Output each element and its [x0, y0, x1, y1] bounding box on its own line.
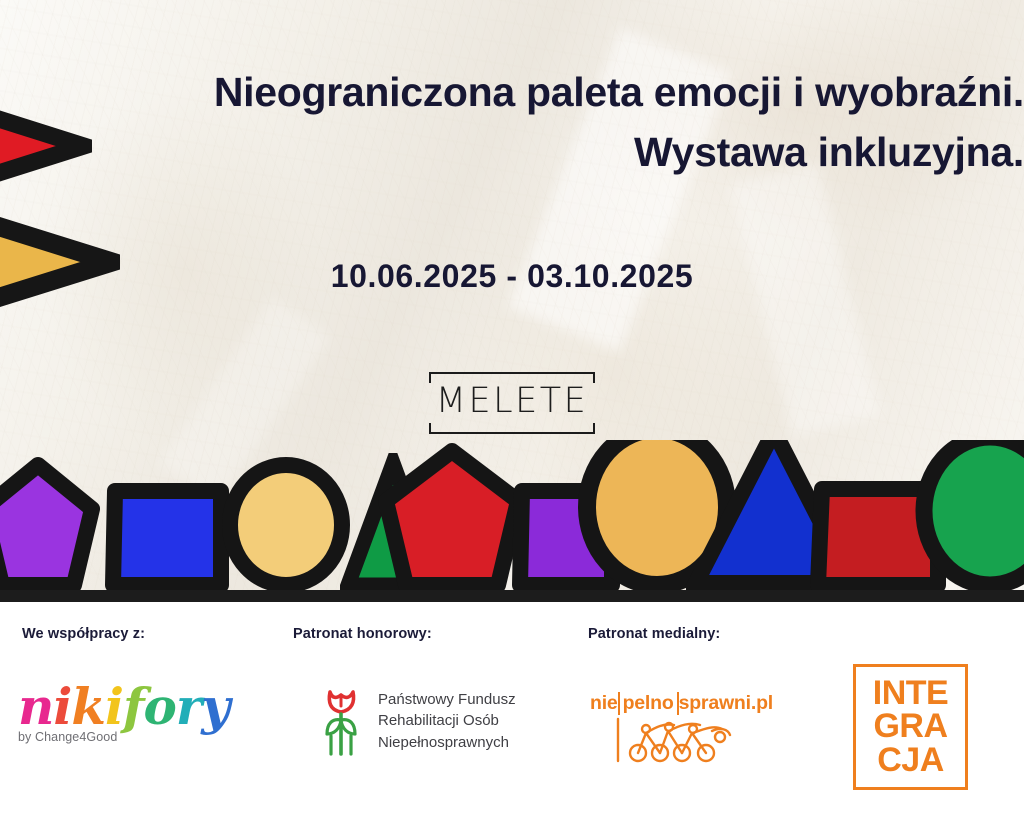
integracja-line-1: INTE — [873, 677, 948, 711]
headline-line-1: Nieograniczona paleta emocji i wyobraźni… — [40, 63, 1024, 123]
nikifory-letter-i1: i — [53, 682, 71, 732]
niepelnosprawni-wordmark: niepelnosprawni.pl — [590, 692, 810, 715]
label-media-patronage: Patronat medialny: — [588, 626, 720, 642]
pfron-logo[interactable]: Państwowy Fundusz Rehabilitacji Osób Nie… — [320, 684, 542, 764]
melete-logo: MELETE — [429, 372, 595, 434]
nikifory-letter-n: n — [18, 682, 53, 732]
nikifory-letter-k: k — [71, 682, 105, 732]
pfron-line-3: Niepełnosprawnych — [378, 732, 516, 753]
niepelnosprawni-part-pelno: pelno — [618, 692, 679, 715]
melete-frame-bottom — [429, 432, 595, 434]
melete-frame-corner-bl — [429, 423, 431, 434]
pfron-line-1: Państwowy Fundusz — [378, 689, 516, 710]
melete-frame-corner-br — [593, 423, 595, 434]
green-circle-shape — [912, 440, 1024, 593]
band-baseline — [0, 590, 1024, 602]
niepelnosprawni-part-nie: nie — [590, 692, 618, 715]
integracja-logo[interactable]: INTE GRA CJA — [853, 664, 968, 790]
exhibition-date-range: 10.06.2025 - 03.10.2025 — [0, 258, 1024, 295]
geometric-shape-band — [0, 440, 1024, 602]
niepelnosprawni-part-sprawni: sprawni.pl — [679, 692, 773, 715]
nikifory-letter-o: o — [144, 682, 176, 732]
headline-line-2: Wystawa inkluzyjna. — [40, 123, 1024, 183]
cyclists-icon — [590, 717, 810, 763]
purple-pentagon-shape — [0, 457, 100, 593]
pfron-name: Państwowy Fundusz Rehabilitacji Osób Nie… — [378, 684, 516, 753]
label-honorary-patronage: Patronat honorowy: — [293, 626, 432, 642]
integracja-line-2: GRA — [873, 710, 947, 744]
melete-wordmark: MELETE — [425, 381, 599, 421]
nikifory-logo[interactable]: nikifory by Change4Good — [18, 682, 240, 754]
tulip-icon — [320, 684, 366, 763]
exhibition-poster: Nieograniczona paleta emocji i wyobraźni… — [0, 0, 1024, 828]
nikifory-letter-f: f — [123, 682, 144, 732]
melete-frame-top — [429, 372, 595, 374]
poster-headline: Nieograniczona paleta emocji i wyobraźni… — [40, 63, 1024, 183]
niepelnosprawni-logo[interactable]: niepelnosprawni.pl — [590, 692, 810, 764]
blue-square-shape — [103, 481, 231, 593]
label-partner: We współpracy z: — [22, 626, 145, 642]
nikifory-letter-i2: i — [105, 682, 123, 732]
gold-circle-shape-1 — [220, 457, 352, 593]
nikifory-wordmark: nikifory — [18, 682, 240, 732]
pfron-line-2: Rehabilitacji Osób — [378, 710, 516, 731]
red-pentagon-shape — [376, 443, 528, 593]
nikifory-letter-r: r — [176, 682, 201, 732]
nikifory-letter-y: y — [201, 682, 229, 732]
integracja-line-3: CJA — [877, 744, 944, 778]
